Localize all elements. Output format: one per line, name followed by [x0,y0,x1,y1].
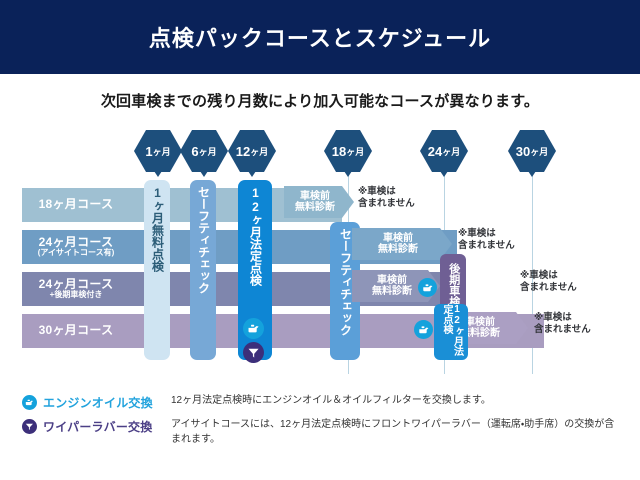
month-badge-number: 24 [428,144,442,159]
month-badge-number: 6 [191,144,198,159]
oil-can-icon [22,395,37,410]
arrow-18-pre: 車検前 無料診断 [284,186,354,218]
month-badge-12: 12ヶ月 [228,130,276,172]
box-legal-12m-label: 12ヶ月法定点検 [441,304,462,360]
course-label-main: 30ヶ月コース [39,324,114,337]
note-24: ※車検は 含まれません [458,228,515,252]
oil-can-icon [243,318,264,339]
legend-title-wiper-rubber: ワイパーラバー交換 [43,418,171,435]
month-badge-tail-6 [200,171,208,177]
month-badge-unit: ヶ月 [442,145,460,158]
box-late-inspection-label: 後期車検 [447,263,459,307]
month-badge-number: 1 [145,144,152,159]
month-badge-unit: ヶ月 [250,145,268,158]
month-badge-unit: ヶ月 [199,145,217,158]
month-badge-unit: ヶ月 [530,145,548,158]
month-badge-unit: ヶ月 [346,145,364,158]
oil-can-icon [414,320,433,339]
month-badge-tail-30 [528,171,536,177]
legend-title-engine-oil: エンジンオイル交換 [43,394,171,411]
legend-badge-wiper-rubber [22,419,37,434]
oil-can-icon [418,278,437,297]
course-label-0: 18ヶ月コース [22,188,130,222]
service-column-label: 12ヶ月法定点検 [249,186,262,286]
service-column-label: セーフティチェック [339,228,352,336]
course-label-sub: (アイサイトコース有) [38,249,115,258]
page-title: 点検パックコースとスケジュール [149,21,491,53]
legend-desc-wiper-rubber: アイサイトコースには、12ヶ月法定点検時にフロントワイパーラバー（運転席・助手席… [171,418,622,447]
legend-item-wiper-rubber: ワイパーラバー交換アイサイトコースには、12ヶ月法定点検時にフロントワイパーラバ… [22,418,622,447]
month-badge-30: 30ヶ月 [508,130,556,172]
month-badge-number: 12 [236,144,250,159]
month-badge-tail-24 [440,171,448,177]
month-badge-1: 1ヶ月 [134,130,182,172]
course-label-1: 24ヶ月コース(アイサイトコース有) [22,230,130,264]
schedule-chart: 18ヶ月コース24ヶ月コース(アイサイトコース有)24ヶ月コース+後期車検付き3… [0,130,640,380]
infographic-page: 点検パックコースとスケジュール 次回車検までの残り月数により加入可能なコースが異… [0,0,640,480]
box-legal-12m: 12ヶ月法定点検 [434,304,468,360]
month-badge-number: 18 [332,144,346,159]
service-column-1ヶ月無料点検: 1ヶ月無料点検 [144,180,170,360]
month-badge-tail-18 [344,171,352,177]
note-18: ※車検は 含まれません [358,186,415,210]
service-column-label: セーフティチェック [197,186,210,294]
column-icons [243,318,264,363]
legend-desc-engine-oil: 12ヶ月法定点検時にエンジンオイル＆オイルフィルターを交換します。 [171,394,622,409]
month-badge-18: 18ヶ月 [324,130,372,172]
course-label-3: 30ヶ月コース [22,314,130,348]
month-badge-24: 24ヶ月 [420,130,468,172]
course-label-2: 24ヶ月コース+後期車検付き [22,272,130,306]
month-badge-unit: ヶ月 [153,145,171,158]
subtitle-text: 次回車検までの残り月数により加入可能なコースが異なります。 [0,90,640,111]
wiper-icon [243,342,264,363]
legend-item-engine-oil: エンジンオイル交換12ヶ月法定点検時にエンジンオイル＆オイルフィルターを交換しま… [22,394,622,411]
service-column-セーフティチェック: セーフティチェック [190,180,216,360]
month-badge-6: 6ヶ月 [180,130,228,172]
late-box-oil-icon-wrap [418,278,437,297]
note-30: ※車検は 含まれません [534,312,591,336]
legal-box-oil-icon-wrap [414,320,433,339]
wiper-icon [22,419,37,434]
legend: エンジンオイル交換12ヶ月法定点検時にエンジンオイル＆オイルフィルターを交換しま… [22,394,622,454]
note-24-late: ※車検は 含まれません [520,270,577,294]
month-badge-number: 30 [516,144,530,159]
course-label-main: 18ヶ月コース [39,198,114,211]
legend-badge-engine-oil [22,395,37,410]
arrow-24-pre: 車検前 無料診断 [352,228,452,260]
page-header: 点検パックコースとスケジュール [0,0,640,74]
course-label-sub: +後期車検付き [50,291,103,300]
month-badge-tail-1 [154,171,162,177]
service-column-label: 1ヶ月無料点検 [151,186,164,272]
month-badge-tail-12 [248,171,256,177]
